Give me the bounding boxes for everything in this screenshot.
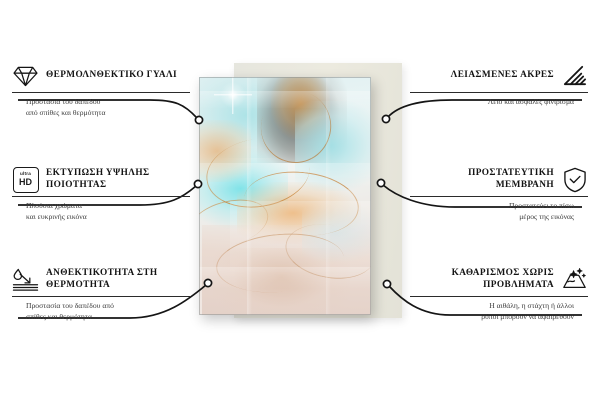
glass-panel bbox=[199, 77, 371, 315]
feature-subtitle: Πλούσια χρώματακαι ευκρινής εικόνα bbox=[12, 201, 190, 223]
hd-label: HD bbox=[19, 178, 32, 187]
feature-polished-edges[interactable]: ΛΕΙΑΣΜΕΝΕΣ ΑΚΡΕΣ Λείο και ασφαλές φινίρι… bbox=[410, 62, 588, 108]
artwork-abstract-marble bbox=[199, 77, 371, 315]
hatched-triangle-icon bbox=[561, 62, 588, 89]
divider bbox=[410, 92, 588, 93]
feature-heat-resistant-glass[interactable]: ΘΕΡΜΟΛΝΘΕΚΤΙΚΟ ΓΥΑΛΙ Προστασία του δαπέδ… bbox=[12, 62, 190, 119]
feature-easy-cleaning[interactable]: ΚΑΘΑΡΙΣΜΟΣ ΧΩΡΙΣ ΠΡΟΒΛΗΜΑΤΑ Η αιθάλη, η … bbox=[410, 266, 588, 323]
product-visual bbox=[180, 55, 420, 355]
divider bbox=[410, 296, 588, 297]
glass-glint-icon bbox=[220, 82, 246, 108]
feature-title: ΛΕΙΑΣΜΕΝΕΣ ΑΚΡΕΣ bbox=[451, 70, 554, 82]
divider bbox=[12, 196, 190, 197]
wipe-sparkle-icon bbox=[561, 266, 588, 293]
feature-subtitle: Προστασία του δαπέδουαπό σπίθες και θερμ… bbox=[12, 97, 190, 119]
divider bbox=[410, 196, 588, 197]
flame-deflect-icon bbox=[12, 266, 39, 293]
feature-subtitle: Η αιθάλη, η στάχτη ή άλλοιρύποι μπορούν … bbox=[410, 301, 588, 323]
feature-title: ΠΡΟΣΤΑΤΕΥΤΙΚΗ ΜΕΜΒΡΑΝΗ bbox=[410, 168, 554, 192]
feature-subtitle: Προστασία του δαπέδου απόσπίθες και θερμ… bbox=[12, 301, 190, 323]
ultra-hd-icon: ultra HD bbox=[12, 166, 39, 193]
feature-title: ΕΚΤΥΠΩΣΗ ΥΨΗΛΗΣ ΠΟΙΟΤΗΤΑΣ bbox=[46, 168, 190, 192]
feature-subtitle: Προστατεύει το πίσωμέρος της εικόνας bbox=[410, 201, 588, 223]
shield-check-icon bbox=[561, 166, 588, 193]
feature-subtitle: Λείο και ασφαλές φινίρισμα bbox=[410, 97, 588, 108]
infographic-canvas: ΘΕΡΜΟΛΝΘΕΚΤΙΚΟ ΓΥΑΛΙ Προστασία του δαπέδ… bbox=[0, 0, 600, 400]
feature-title: ΑΝΘΕΚΤΙΚΟΤΗΤΑ ΣΤΗ ΘΕΡΜΟΤΗΤΑ bbox=[46, 268, 190, 292]
divider bbox=[12, 92, 190, 93]
feature-title: ΚΑΘΑΡΙΣΜΟΣ ΧΩΡΙΣ ΠΡΟΒΛΗΜΑΤΑ bbox=[410, 268, 554, 292]
feature-high-quality-print[interactable]: ultra HD ΕΚΤΥΠΩΣΗ ΥΨΗΛΗΣ ΠΟΙΟΤΗΤΑΣ Πλούσ… bbox=[12, 166, 190, 223]
diamond-icon bbox=[12, 62, 39, 89]
divider bbox=[12, 296, 190, 297]
feature-heat-durability[interactable]: ΑΝΘΕΚΤΙΚΟΤΗΤΑ ΣΤΗ ΘΕΡΜΟΤΗΤΑ Προστασία το… bbox=[12, 266, 190, 323]
feature-title: ΘΕΡΜΟΛΝΘΕΚΤΙΚΟ ΓΥΑΛΙ bbox=[46, 70, 177, 82]
feature-protective-membrane[interactable]: ΠΡΟΣΤΑΤΕΥΤΙΚΗ ΜΕΜΒΡΑΝΗ Προστατεύει το πί… bbox=[410, 166, 588, 223]
